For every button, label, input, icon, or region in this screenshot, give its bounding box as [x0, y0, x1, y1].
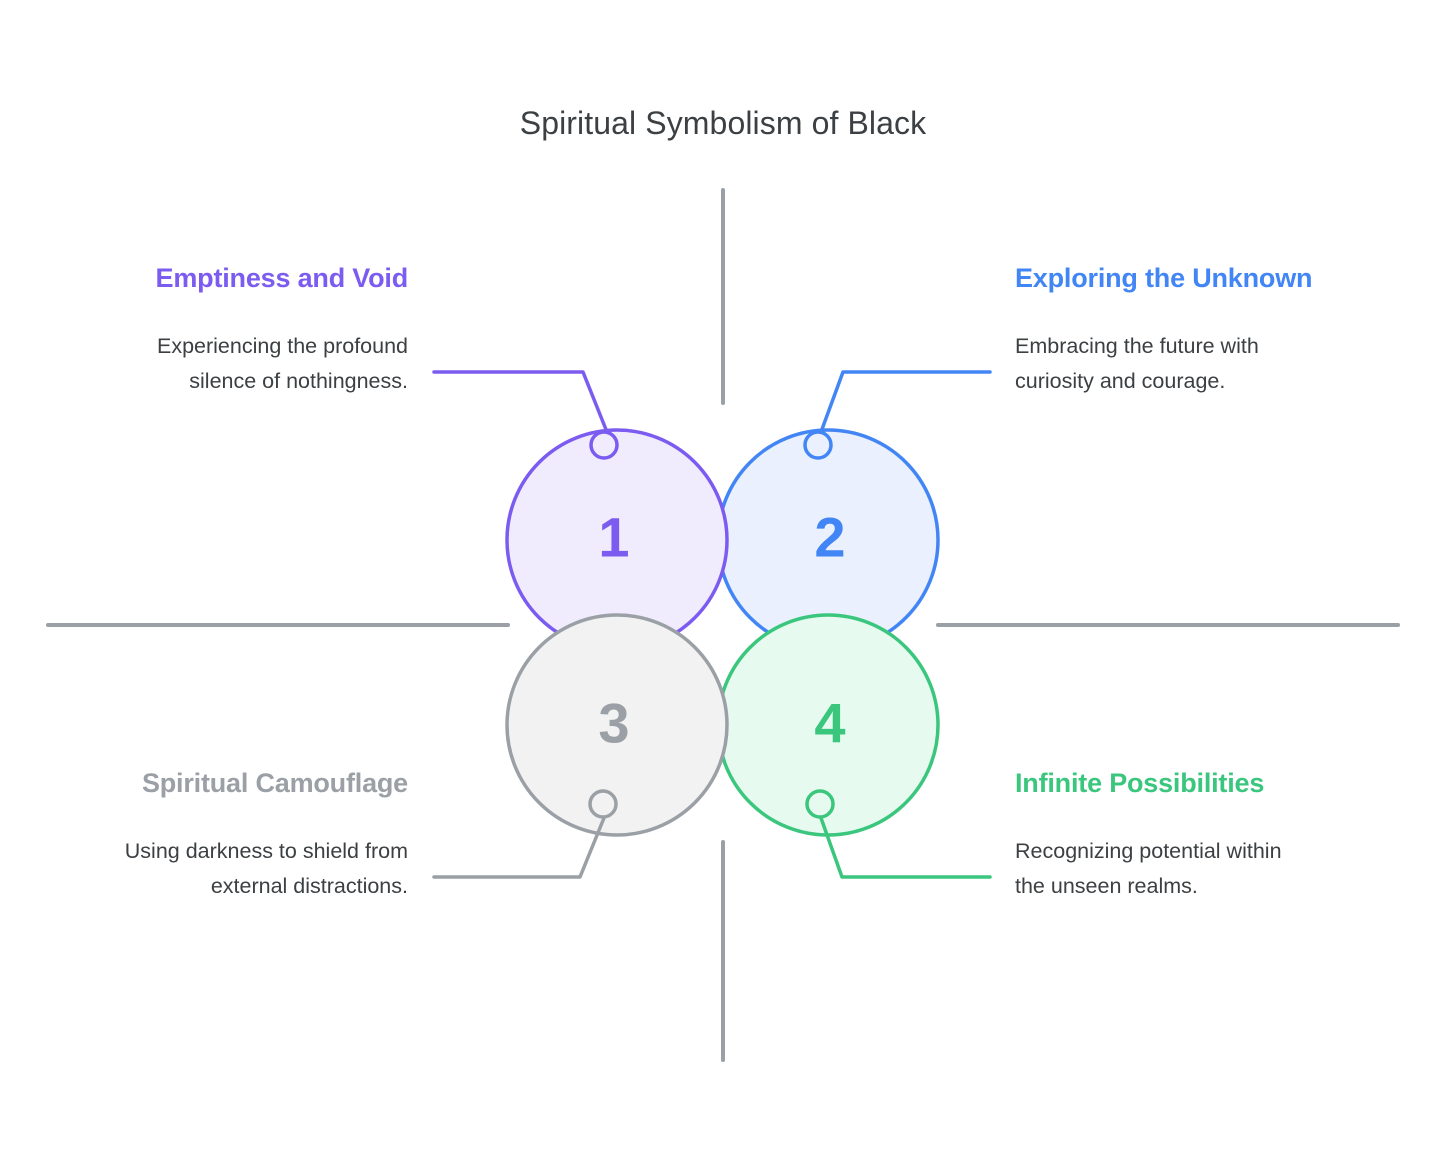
- quadrant-2-heading: Exploring the Unknown: [1015, 255, 1315, 302]
- quadrant-bottom-right: Infinite Possibilities Recognizing poten…: [1015, 760, 1315, 904]
- circle-number-3: 3: [598, 692, 629, 755]
- quadrant-top-left: Emptiness and Void Experiencing the prof…: [108, 255, 408, 399]
- infographic-canvas: Spiritual Symbolism of Black: [0, 0, 1446, 1156]
- connector-ring-1: [591, 432, 617, 458]
- leader-line-1: [434, 372, 617, 458]
- quadrant-3-body: Using darkness to shield from external d…: [108, 834, 408, 904]
- quadrant-bottom-left: Spiritual Camouflage Using darkness to s…: [108, 760, 408, 904]
- circle-number-1: 1: [598, 506, 629, 569]
- quadrant-2-body: Embracing the future with curiosity and …: [1015, 329, 1315, 399]
- venn-circles-diagram: 1 2 3 4: [0, 0, 1446, 1156]
- connector-ring-2: [805, 432, 831, 458]
- connector-ring-4: [807, 791, 833, 817]
- quadrant-4-heading: Infinite Possibilities: [1015, 760, 1315, 807]
- leader-line-3: [434, 791, 616, 877]
- circle-number-2: 2: [814, 506, 845, 569]
- quadrant-1-heading: Emptiness and Void: [108, 255, 408, 302]
- quadrant-1-body: Experiencing the profound silence of not…: [108, 329, 408, 399]
- quadrant-4-body: Recognizing potential within the unseen …: [1015, 834, 1315, 904]
- connector-ring-3: [590, 791, 616, 817]
- quadrant-top-right: Exploring the Unknown Embracing the futu…: [1015, 255, 1315, 399]
- circle-number-4: 4: [814, 692, 845, 755]
- quadrant-3-heading: Spiritual Camouflage: [108, 760, 408, 807]
